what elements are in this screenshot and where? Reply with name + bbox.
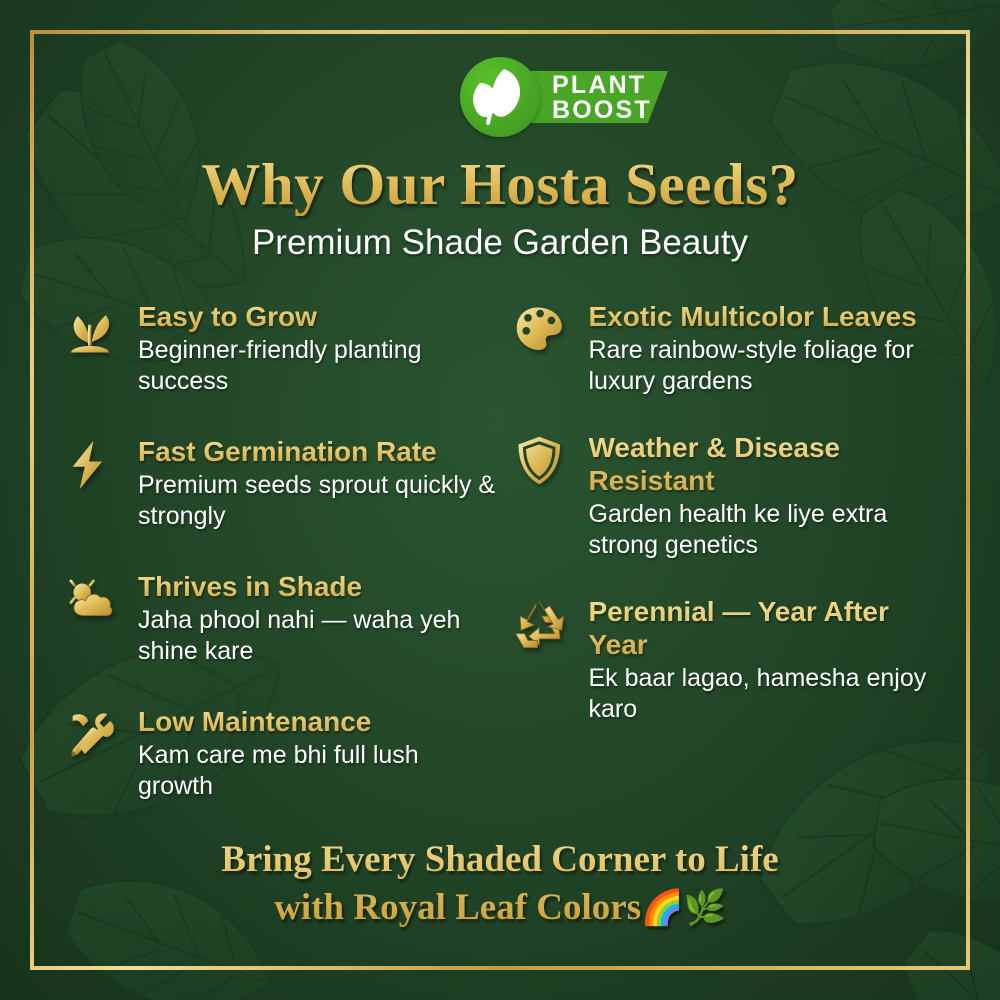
feature-title: Easy to Grow <box>138 300 498 333</box>
feature-item: Exotic Multicolor Leaves Rare rainbow-st… <box>513 300 949 397</box>
feature-title: Weather & Disease Resistant <box>589 431 949 497</box>
feature-item: Thrives in Shade Jaha phool nahi — waha … <box>62 570 498 667</box>
features-column-left: Easy to Grow Beginner-friendly planting … <box>62 300 498 828</box>
feature-title: Thrives in Shade <box>138 570 498 603</box>
feature-title: Perennial — Year After Year <box>589 595 949 661</box>
recycle-icon <box>513 595 575 725</box>
feature-description: Ek baar lagao, hamesha enjoy karo <box>589 663 949 725</box>
feature-description: Premium seeds sprout quickly & strongly <box>138 470 498 532</box>
hammer-and-wrench-icon <box>62 705 124 802</box>
shield-icon <box>513 431 575 561</box>
logo-wordmark: PLANT BOOST <box>552 73 652 123</box>
page-subtitle: Premium Shade Garden Beauty <box>0 222 1000 264</box>
feature-description: Beginner-friendly planting success <box>138 335 498 397</box>
feature-item: Weather & Disease Resistant Garden healt… <box>513 431 949 561</box>
footer-line-1: Bring Every Shaded Corner to Life <box>221 839 778 880</box>
feature-item: Low Maintenance Kam care me bhi full lus… <box>62 705 498 802</box>
poster: PLANT BOOST Why Our Hosta Seeds? Premium… <box>0 0 1000 1000</box>
footer-tagline: Bring Every Shaded Corner to Life with R… <box>0 836 1000 932</box>
rainbow-herb-emoji: 🌈🌿 <box>641 888 726 928</box>
page-title: Why Our Hosta Seeds? <box>0 152 1000 216</box>
feature-title: Exotic Multicolor Leaves <box>589 300 949 333</box>
feature-item: Fast Germination Rate Premium seeds spro… <box>62 435 498 532</box>
brand-logo: PLANT BOOST <box>0 58 1000 136</box>
logo-line-2: BOOST <box>552 98 652 123</box>
seedling-icon <box>62 300 124 397</box>
features-grid: Easy to Grow Beginner-friendly planting … <box>62 300 948 828</box>
footer-line-2: with Royal Leaf Colors <box>274 887 641 928</box>
sun-behind-cloud-icon <box>62 570 124 667</box>
features-column-right: Exotic Multicolor Leaves Rare rainbow-st… <box>513 300 949 828</box>
logo-line-1: PLANT <box>552 73 652 98</box>
lightning-bolt-icon <box>62 435 124 532</box>
leaf-pair-icon <box>460 57 540 137</box>
logo-circle <box>460 57 540 137</box>
feature-title: Fast Germination Rate <box>138 435 498 468</box>
feature-title: Low Maintenance <box>138 705 498 738</box>
feature-description: Jaha phool nahi — waha yeh shine kare <box>138 605 498 667</box>
feature-item: Perennial — Year After Year Ek baar laga… <box>513 595 949 725</box>
feature-description: Garden health ke liye extra strong genet… <box>589 499 949 561</box>
feature-description: Kam care me bhi full lush growth <box>138 740 498 802</box>
artist-palette-icon <box>513 300 575 397</box>
feature-description: Rare rainbow-style foliage for luxury ga… <box>589 335 949 397</box>
feature-item: Easy to Grow Beginner-friendly planting … <box>62 300 498 397</box>
